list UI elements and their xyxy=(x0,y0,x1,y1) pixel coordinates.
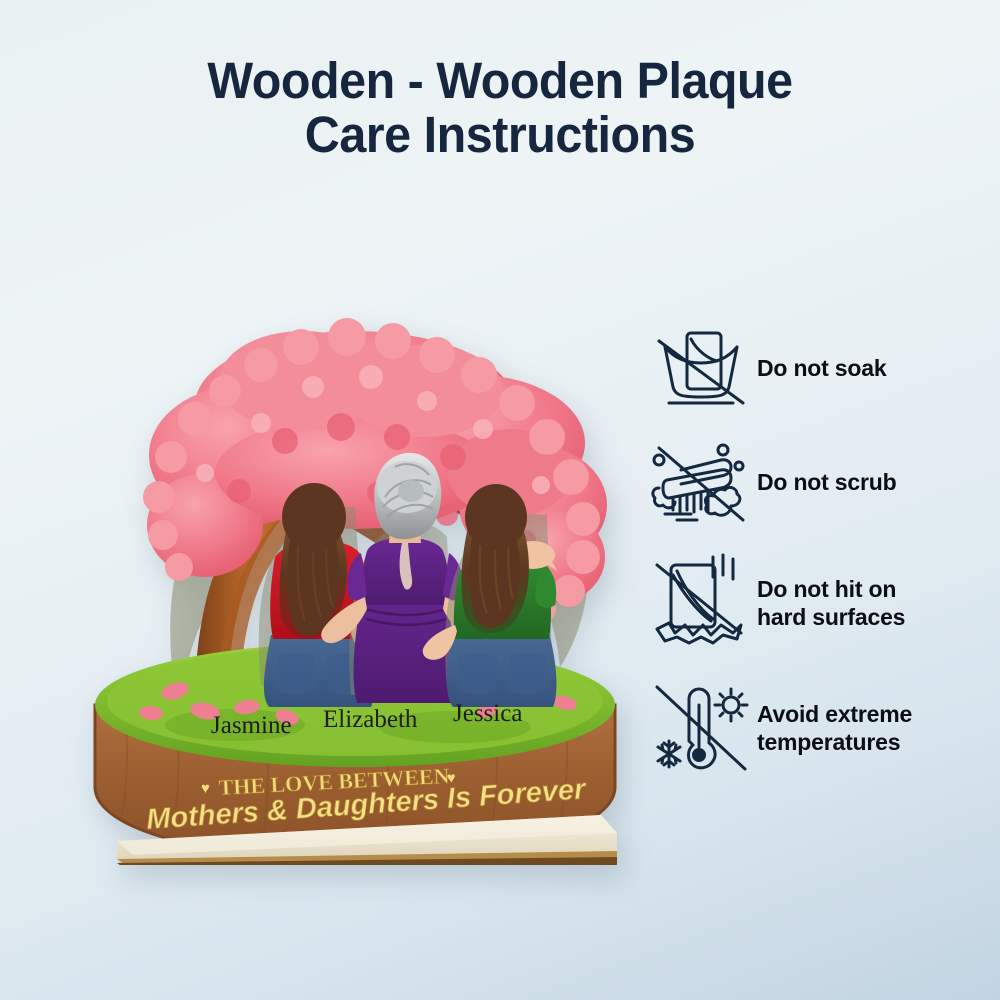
care-row-do-not-soak: Do not soak xyxy=(645,325,990,411)
product-image: Jasmine Elizabeth Jessica ♥ THE LOVE BET… xyxy=(55,205,655,865)
no-scrub-icon xyxy=(645,440,757,524)
care-instructions-list: Do not soak Do not scrub xyxy=(645,325,990,803)
care-row-do-not-scrub: Do not scrub xyxy=(645,439,990,525)
care-label-do-not-hit: Do not hit on hard surfaces xyxy=(757,575,905,631)
no-impact-icon xyxy=(645,553,757,653)
page-title-line-1: Wooden - Wooden Plaque xyxy=(25,54,975,108)
care-row-do-not-hit: Do not hit on hard surfaces xyxy=(645,553,990,653)
no-soak-icon xyxy=(645,325,757,411)
figure-group xyxy=(259,453,557,707)
care-row-avoid-extreme-temp: Avoid extreme temperatures xyxy=(645,681,990,775)
name-label-2: Elizabeth xyxy=(323,706,418,733)
quote-heart-left: ♥ xyxy=(201,780,210,797)
snowflake-glyph xyxy=(658,741,680,767)
page-title: Wooden - Wooden Plaque Care Instructions xyxy=(0,54,1000,162)
no-extreme-temp-icon xyxy=(645,681,757,775)
name-label-3: Jessica xyxy=(453,700,522,727)
name-label-1: Jasmine xyxy=(211,712,292,739)
care-label-do-not-soak: Do not soak xyxy=(757,354,886,382)
care-label-do-not-scrub: Do not scrub xyxy=(757,468,896,496)
page-title-line-2: Care Instructions xyxy=(25,108,975,162)
care-label-avoid-extreme-temp: Avoid extreme temperatures xyxy=(757,700,912,756)
